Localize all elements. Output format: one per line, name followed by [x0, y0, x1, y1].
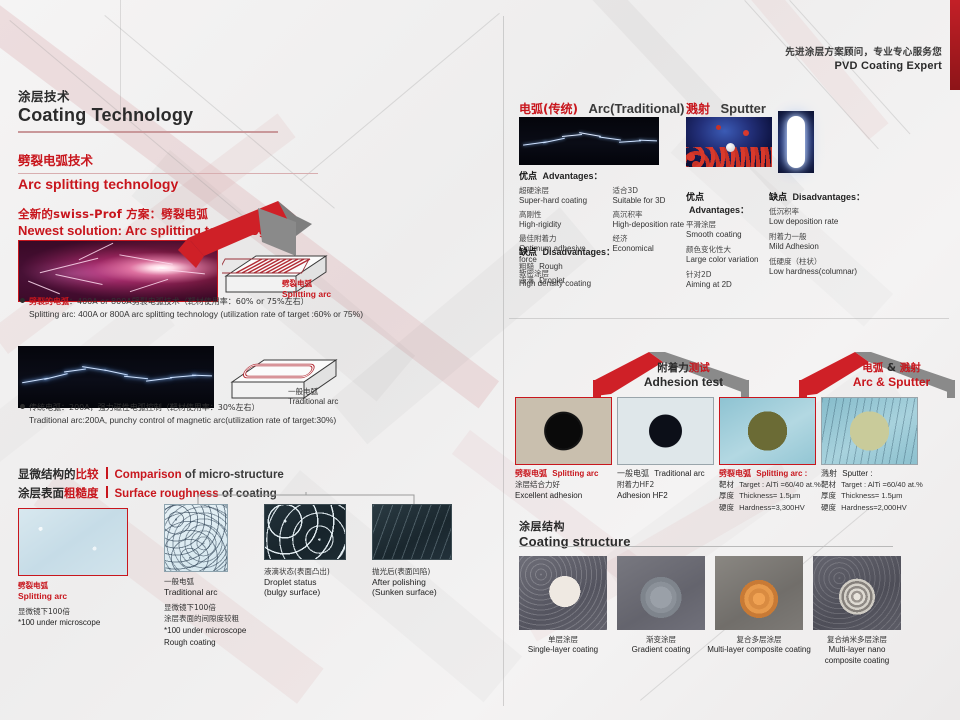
- cs-cap-2-cn: 渐变涂层: [617, 634, 705, 645]
- micro-cn-1a: 显微结构的: [18, 467, 76, 481]
- cs-cap-4-en: Multi-layer nano: [813, 645, 901, 656]
- traditional-arc-diagram-label-cn: 一般电弧: [288, 386, 338, 397]
- adhesion-cap-2-line-en: Adhesion HF2: [617, 490, 717, 502]
- sputter-adv-3-cn: 针对2D: [686, 270, 766, 280]
- adhesion-test-title: 附着力测试 Adhesion test: [601, 360, 766, 389]
- sputter-title-cn: 溅射: [686, 102, 710, 116]
- adhesion-image-traditional-arc: [617, 397, 714, 465]
- sputter-title: 溅射 Sputter: [686, 100, 766, 118]
- adhesion-title-en-text: Adhesion test: [644, 375, 723, 389]
- coating-structure-image-multilayer-nano: [813, 556, 901, 630]
- micro-structure-cn-line2: 涂层表面粗糙度: [18, 485, 99, 501]
- arc-adv-5-cn: 适合3D: [612, 186, 694, 196]
- coating-structure-heading: 涂层结构 Coating structure: [519, 518, 899, 549]
- arc-adv-6-cn: 高沉积率: [612, 210, 694, 220]
- arc-adv-2-en: High-rigidity: [519, 220, 602, 231]
- bullet-traditional-arc-en: Traditional arc:200A, punchy control of …: [20, 414, 490, 426]
- arc-sputter-title: 电弧 & 溅射 Arc & Sputter: [809, 360, 960, 389]
- sputter-disadv-item: 低沉积率 Low deposition rate: [769, 207, 879, 228]
- adhesion-cap-2-cn: 一般电弧: [617, 469, 649, 478]
- arcsp-2-r2-en: Thickness= 1.5μm: [841, 491, 902, 500]
- arcsp-2-r1-en: Target : AlTi =60/40 at.%: [841, 480, 923, 489]
- micro-image-splitting-arc: [18, 508, 128, 576]
- arc-sputter-en-text: Arc & Sputter: [853, 375, 930, 389]
- adhesion-cap-1-en: Splitting arc: [552, 469, 598, 478]
- arcsp-cap-1-cn: 劈裂电弧: [719, 469, 751, 478]
- cs-cap-3-en: Multi-layer composite coating: [703, 645, 815, 656]
- arc-sputter-title-cn: 电弧 & 溅射: [809, 360, 960, 375]
- arcsp-1-r2-en: Thickness= 1.5μm: [739, 491, 800, 500]
- micro-caption-2-sub-en-2: Rough coating: [164, 637, 284, 649]
- sputter-adv-item: 平滑涂层 Smooth coating: [686, 220, 766, 241]
- right-section-separator: [509, 318, 949, 319]
- left-column: 涂层技术 Coating Technology 劈裂电弧技术 Arc split…: [0, 0, 503, 720]
- arc-adv-7-cn: 经济: [612, 234, 694, 244]
- coating-structure-caption-4: 复合纳米多层涂层 Multi-layer nano composite coat…: [813, 634, 901, 667]
- coating-technology-title-cn: 涂层技术: [18, 86, 278, 105]
- arcsp-cap-1-row-3: 硬度 Hardness=3,300HV: [719, 502, 823, 513]
- arc-splitting-heading: 劈裂电弧技术 Arc splitting technology: [18, 150, 318, 192]
- arc-disadv-header: 缺点 Disadvantages：: [519, 245, 669, 258]
- bullet-dot-icon-2: [20, 404, 25, 409]
- arc-disadv-item-1: 粗糙 Rough: [519, 262, 669, 273]
- arcsp-cap-1-row-2: 厚度 Thickness= 1.5μm: [719, 490, 823, 501]
- arc-adv-2-cn: 高刚性: [519, 210, 602, 220]
- arc-splitting-underline: [18, 173, 318, 174]
- coating-structure-image-multilayer-composite: [715, 556, 803, 630]
- arc-adv-header-cn: 优点: [519, 172, 537, 182]
- micro-image-droplet-status: [264, 504, 346, 560]
- sputter-disadv-item: 低硬度（柱状） Low hardness(columnar): [769, 257, 879, 278]
- arc-splitting-title-en: Arc splitting technology: [18, 176, 318, 192]
- micro-en-1b: of micro-structure: [182, 469, 284, 481]
- sputter-adv-3-en: Aiming at 2D: [686, 280, 766, 291]
- arc-adv-1-en: Super-hard coating: [519, 196, 602, 207]
- arc-disadv-2-en: Droplet: [539, 276, 565, 285]
- bullet-splitting-arc: 劈裂的电弧：400A or 800A劈裂电弧技术（靶材使用率：60% or 75…: [20, 296, 490, 320]
- arc-sputter-title-en: Arc & Sputter: [809, 375, 960, 389]
- bullet-splitting-arc-cn-rest: ：400A or 800A劈裂电弧技术（靶材使用率：60% or 75%左右）: [69, 297, 309, 306]
- coating-structure-image-single-layer: [519, 556, 607, 630]
- coating-structure-caption-1: 单层涂层 Single-layer coating: [519, 634, 607, 656]
- sputter-advantages: 优点 Advantages： 平滑涂层 Smooth coating 颜色变化性…: [686, 190, 766, 291]
- cs-cap-2-en: Gradient coating: [617, 645, 705, 656]
- adhesion-cap-1-line-en: Excellent adhesion: [515, 490, 615, 502]
- micro-cn-1b: 比较: [76, 467, 99, 481]
- adhesion-title-cn-a: 附着力: [657, 362, 689, 374]
- arcsp-cap-1-title: 劈裂电弧 Splitting arc :: [719, 468, 823, 479]
- header-tagline: 先进涂层方案顾问，专业专心服务您 PVD Coating Expert: [785, 44, 942, 72]
- bullet-dot-icon: [20, 298, 25, 303]
- arcsp-1-r1-cn: 靶材: [719, 480, 734, 489]
- arcsp-1-r3-cn: 硬度: [719, 503, 734, 512]
- adhesion-cap-2-en: Traditional arc: [654, 469, 704, 478]
- arc-sputter-caption-sputter: 溅射 Sputter : 靶材 Target : AlTi =60/40 at.…: [821, 468, 931, 513]
- adhesion-image-sputter-target: [821, 397, 918, 465]
- arc-adv-item: 高沉积率 High-deposition rate: [612, 210, 694, 231]
- arcsp-cap-1-en: Splitting arc :: [756, 469, 807, 478]
- bullet-splitting-arc-cn: 劈裂的电弧：400A or 800A劈裂电弧技术（靶材使用率：60% or 75…: [20, 296, 490, 308]
- micro-structure-en-line1: Comparison of micro-structure: [115, 469, 284, 481]
- sputter-disadvantages: 缺点 Disadvantages： 低沉积率 Low deposition ra…: [769, 190, 879, 278]
- coating-structure-underline: [519, 546, 893, 547]
- coating-structure-caption-2: 渐变涂层 Gradient coating: [617, 634, 705, 656]
- cs-cap-1-en: Single-layer coating: [519, 645, 607, 656]
- coating-structure-title-cn: 涂层结构: [519, 518, 899, 534]
- arc-adv-header-en: Advantages：: [543, 171, 603, 181]
- cs-cap-4-cn: 复合纳米多层涂层: [813, 634, 901, 645]
- red-grey-arrow-graphic: [100, 196, 330, 291]
- micro-caption-3-cn: 液滴状态(表面凸出): [264, 566, 374, 577]
- bullet-traditional-arc-cn-text: 传统电弧：200A，强力磁性电弧控制（靶材使用率：30%左右）: [29, 403, 260, 412]
- arcsp-2-r1-cn: 靶材: [821, 480, 836, 489]
- arc-traditional-title-en: Arc(Traditional): [588, 101, 684, 116]
- arcsp-cap-2-cn: 溅射: [821, 469, 837, 478]
- adhesion-cap-1-cn: 劈裂电弧: [515, 469, 547, 478]
- sputter-disadv-1-en: Low deposition rate: [769, 217, 879, 228]
- cs-cap-1-cn: 单层涂层: [519, 634, 607, 645]
- arcsp-2-r3-en: Hardness=2,000HV: [841, 503, 907, 512]
- arcsp-2-r3-cn: 硬度: [821, 503, 836, 512]
- arcsp-2-r2-cn: 厚度: [821, 491, 836, 500]
- arc-traditional-title: 电弧(传统) Arc(Traditional): [519, 100, 685, 118]
- sputter-disadv-1-cn: 低沉积率: [769, 207, 879, 217]
- adhesion-title-cn-b: 测试: [689, 362, 710, 374]
- micro-heading-divider-2: [106, 486, 108, 498]
- adhesion-cap-1-line-cn: 涂层结合力好: [515, 479, 615, 490]
- right-column: 电弧(传统) Arc(Traditional) 溅射 Sputter 优点 Ad…: [503, 0, 960, 720]
- arc-adv-3-cn: 最佳附着力: [519, 234, 602, 244]
- sputter-adv-header-en: Advantages：: [689, 205, 749, 215]
- arcsp-cap-1-row-1: 靶材 Target : AlTi =60/40 at.%: [719, 479, 823, 490]
- arc-splitting-title-cn: 劈裂电弧技术: [18, 150, 318, 169]
- sputter-disadv-item: 附着力一般 Mild Adhesion: [769, 232, 879, 253]
- micro-cn-2a: 涂层表面: [18, 486, 64, 500]
- arcsp-1-r1-en: Target : AlTi =60/40 at.%: [739, 480, 821, 489]
- adhesion-caption-traditional-arc: 一般电弧 Traditional arc 附着力HF2 Adhesion HF2: [617, 468, 717, 502]
- arc-adv-item: 适合3D Suitable for 3D: [612, 186, 694, 207]
- micro-caption-3-sub-en: (bulgy surface): [264, 587, 374, 597]
- arc-adv-5-en: Suitable for 3D: [612, 196, 694, 207]
- micro-caption-4-sub-en: (Sunken surface): [372, 587, 482, 597]
- adhesion-test-title-cn: 附着力测试: [601, 360, 766, 375]
- adhesion-image-splitting-arc: [515, 397, 612, 465]
- micro-cn-2b: 粗糙度: [64, 486, 99, 500]
- sputter-adv-2-en: Large color variation: [686, 255, 766, 266]
- header-tagline-cn: 先进涂层方案顾问，专业专心服务您: [785, 44, 942, 58]
- coating-technology-title-en: Coating Technology: [18, 105, 278, 126]
- adhesion-cap-2-title: 一般电弧 Traditional arc: [617, 468, 717, 479]
- bullet-splitting-arc-en: Splitting arc: 400A or 800A arc splittin…: [20, 308, 490, 320]
- bullet-splitting-arc-cn-strong: 劈裂的电弧: [29, 297, 69, 306]
- sputter-disadv-2-en: Mild Adhesion: [769, 242, 879, 253]
- arcsp-1-r3-en: Hardness=3,300HV: [739, 503, 805, 512]
- adhesion-caption-splitting-arc: 劈裂电弧 Splitting arc 涂层结合力好 Excellent adhe…: [515, 468, 615, 502]
- micro-caption-1-sub-en: *100 under microscope: [18, 617, 148, 629]
- arc-sputter-cn-b: 溅射: [900, 362, 921, 374]
- arc-adv-1-cn: 超硬涂层: [519, 186, 602, 196]
- micro-image-traditional-arc: [164, 504, 228, 572]
- sputter-disadv-header-cn: 缺点: [769, 193, 787, 203]
- arc-disadv-item-2: 液滴 Droplet: [519, 276, 669, 287]
- bullet-traditional-arc-cn: 传统电弧：200A，强力磁性电弧控制（靶材使用率：30%左右）: [20, 402, 490, 414]
- arc-disadv-header-cn: 缺点: [519, 248, 537, 258]
- micro-caption-2-sub-cn-1: 显微镜下100倍: [164, 602, 284, 613]
- sputter-adv-header: 优点 Advantages：: [686, 190, 766, 216]
- arc-traditional-title-cn: 电弧(传统): [519, 102, 578, 116]
- adhesion-image-arc-splitting-target: [719, 397, 816, 465]
- sputter-adv-header-cn: 优点: [686, 193, 704, 203]
- arcsp-cap-2-en: Sputter :: [842, 469, 872, 478]
- traditional-arc-photo: [18, 346, 214, 408]
- micro-en-1a: Comparison: [115, 469, 182, 481]
- coating-structure-caption-3: 复合多层涂层 Multi-layer composite coating: [703, 634, 815, 656]
- sputter-title-en: Sputter: [720, 101, 766, 116]
- coating-technology-heading: 涂层技术 Coating Technology: [18, 86, 278, 133]
- arc-sputter-cn-a: 电弧: [862, 362, 883, 374]
- micro-caption-splitting-arc: 劈裂电弧 Splitting arc 显微镜下100倍 *100 under m…: [18, 580, 148, 629]
- arc-adv-header: 优点 Advantages：: [519, 169, 694, 182]
- arc-adv-6-en: High-deposition rate: [612, 220, 694, 231]
- sputter-adv-2-cn: 颜色变化性大: [686, 245, 766, 255]
- micro-caption-1-en: Splitting arc: [18, 591, 148, 601]
- micro-caption-after-polishing: 抛光后(表面凹陷) After polishing (Sunken surfac…: [372, 566, 482, 597]
- sputter-adv-1-en: Smooth coating: [686, 230, 766, 241]
- sputter-disadv-header: 缺点 Disadvantages：: [769, 190, 879, 203]
- header-tagline-en: PVD Coating Expert: [785, 60, 942, 72]
- arc-adv-item: 超硬涂层 Super-hard coating: [519, 186, 602, 207]
- micro-caption-2-sub-en-1: *100 under microscope: [164, 625, 284, 637]
- cs-cap-3-cn: 复合多层涂层: [703, 634, 815, 645]
- sputter-disadv-3-cn: 低硬度（柱状）: [769, 257, 879, 267]
- adhesion-cap-2-line-cn: 附着力HF2: [617, 479, 717, 490]
- poster-page: 先进涂层方案顾问，专业专心服务您 PVD Coating Expert 涂层技术…: [0, 0, 960, 720]
- micro-caption-droplet-status: 液滴状态(表面凸出) Droplet status (bulgy surface…: [264, 566, 374, 597]
- right-red-edge-bar: [950, 0, 960, 90]
- arc-sputter-caption-splitting-arc: 劈裂电弧 Splitting arc : 靶材 Target : AlTi =6…: [719, 468, 823, 513]
- arc-disadv-header-en: Disadvantages：: [543, 247, 616, 257]
- column-divider: [503, 16, 504, 706]
- arcsp-cap-2-row-1: 靶材 Target : AlTi =60/40 at.%: [821, 479, 931, 490]
- micro-caption-2-sub-cn-2: 涂层表面的间隙度较粗: [164, 613, 284, 624]
- arcsp-1-r2-cn: 厚度: [719, 491, 734, 500]
- cs-cap-4-en2: composite coating: [813, 656, 901, 667]
- micro-caption-1-cn: 劈裂电弧: [18, 580, 148, 591]
- micro-image-after-polishing: [372, 504, 452, 560]
- arc-disadv-1-en: Rough: [539, 262, 563, 271]
- micro-caption-3-en: Droplet status: [264, 577, 374, 587]
- sputter-adv-1-cn: 平滑涂层: [686, 220, 766, 230]
- sputter-adv-item: 颜色变化性大 Large color variation: [686, 245, 766, 266]
- arc-disadv-2-cn: 液滴: [519, 276, 534, 285]
- sputter-adv-item: 针对2D Aiming at 2D: [686, 270, 766, 291]
- arc-disadv-1-cn: 粗糙: [519, 262, 534, 271]
- coating-technology-underline: [18, 131, 278, 133]
- micro-structure-heading-row1: 显微结构的比较 Comparison of micro-structure: [18, 466, 284, 482]
- sputter-disadv-header-en: Disadvantages：: [793, 192, 866, 202]
- micro-caption-4-en: After polishing: [372, 577, 482, 587]
- micro-structure-cn-line1: 显微结构的比较: [18, 466, 99, 482]
- arcsp-cap-2-title: 溅射 Sputter :: [821, 468, 931, 479]
- sputter-disadv-3-en: Low hardness(columnar): [769, 267, 879, 278]
- micro-heading-divider-1: [106, 467, 108, 479]
- bullet-traditional-arc: 传统电弧：200A，强力磁性电弧控制（靶材使用率：30%左右） Traditio…: [20, 402, 490, 426]
- adhesion-cap-1-title: 劈裂电弧 Splitting arc: [515, 468, 615, 479]
- arcsp-cap-2-row-3: 硬度 Hardness=2,000HV: [821, 502, 931, 513]
- arc-traditional-disadvantages: 缺点 Disadvantages： 粗糙 Rough 液滴 Droplet: [519, 245, 669, 287]
- micro-caption-4-cn: 抛光后(表面凹陷): [372, 566, 482, 577]
- arcsp-cap-2-row-2: 厚度 Thickness= 1.5μm: [821, 490, 931, 501]
- coating-structure-image-gradient: [617, 556, 705, 630]
- sputter-disadv-2-cn: 附着力一般: [769, 232, 879, 242]
- micro-caption-1-sub-cn: 显微镜下100倍: [18, 606, 148, 617]
- adhesion-test-title-en: Adhesion test: [601, 375, 766, 389]
- arc-sputter-cn-mid: &: [883, 362, 899, 374]
- arc-adv-item: 高刚性 High-rigidity: [519, 210, 602, 231]
